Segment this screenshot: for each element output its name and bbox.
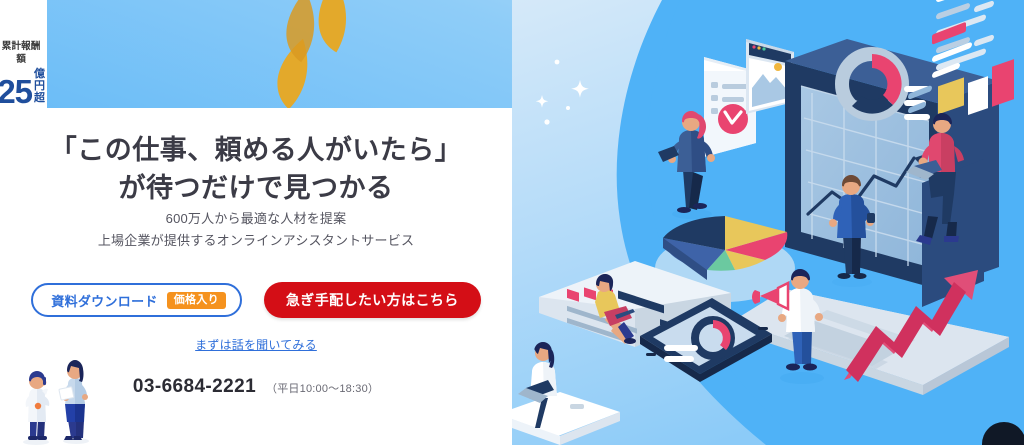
document-download-label: 資料ダウンロード <box>51 291 157 310</box>
subheading: 600万人から最適な人材を提案 上場企業が提供するオンラインアシスタントサービス <box>0 208 512 252</box>
urgent-request-button[interactable]: 急ぎ手配したい方はこちら <box>264 282 481 318</box>
person-woman-with-clipboard <box>59 360 89 444</box>
cta-button-row: 資料ダウンロード 価格入り 急ぎ手配したい方はこちら <box>0 282 512 318</box>
stat-badge-body: 累計報酬額 25 億円超 <box>0 36 47 108</box>
hero-illustration-panel <box>512 0 1024 445</box>
business-hours: （平日10:00〜18:30） <box>266 380 379 396</box>
tile-pink <box>992 59 1014 107</box>
two-business-people-illustration <box>8 350 113 445</box>
headline-line-1: 「この仕事、頼める人がいたら」 <box>0 132 512 168</box>
person-man-on-phone <box>23 371 49 445</box>
subcopy-line-2: 上場企業が提供するオンラインアシスタントサービス <box>0 230 512 252</box>
isometric-analytics-illustration <box>512 0 1024 445</box>
talk-first-link[interactable]: まずは話を聞いてみる <box>195 338 317 352</box>
subcopy-line-1: 600万人から最適な人材を提案 <box>0 208 512 230</box>
stat-badge-caption: 累計報酬額 <box>0 41 45 66</box>
stat-badge: 累計報酬額 25 億円超 <box>0 30 512 108</box>
stat-badge-suffix: 億円超 <box>34 68 45 104</box>
phone-number[interactable]: 03-6684-2221 <box>133 376 256 398</box>
document-download-button[interactable]: 資料ダウンロード 価格入り <box>31 283 242 317</box>
page-title: 「この仕事、頼める人がいたら」 が待つだけで見つかる <box>0 132 512 206</box>
price-included-badge: 価格入り <box>167 292 226 309</box>
clock-icon-pink <box>718 104 748 134</box>
left-content-panel: 業界最大級の 人材データベース 600 万人 以上 <box>0 0 512 445</box>
hero-landing-page: 業界最大級の 人材データベース 600 万人 以上 <box>0 0 1024 445</box>
laurel-wreath-icon <box>47 0 512 108</box>
stat-badges-row: 業界最大級の 人材データベース 600 万人 以上 <box>0 30 512 108</box>
urgent-request-label: 急ぎ手配したい方はこちら <box>286 290 459 310</box>
headline-line-2: が待つだけで見つかる <box>0 170 512 206</box>
stat-badge-figure: 25 億円超 <box>0 68 45 108</box>
stat-badge-number: 25 <box>0 76 32 108</box>
